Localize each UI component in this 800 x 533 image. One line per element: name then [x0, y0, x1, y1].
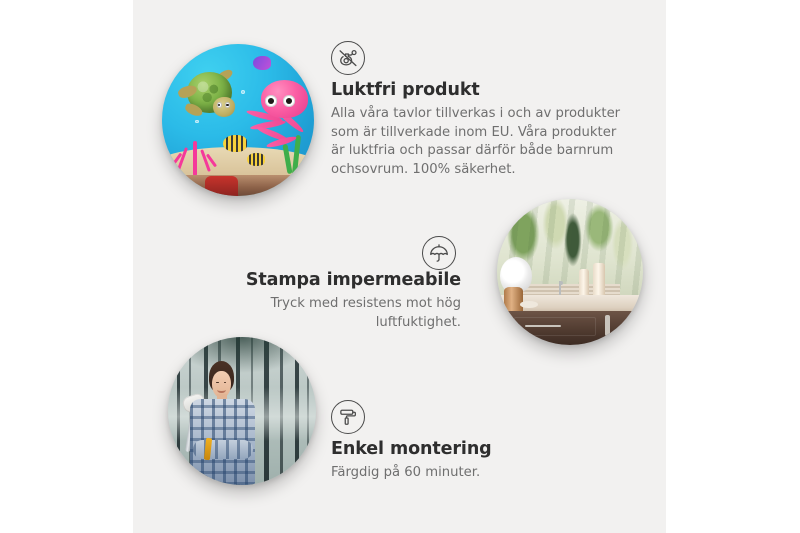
octopus-body [261, 80, 308, 117]
sea-foreground-object [205, 176, 238, 196]
feature-title: Luktfri produkt [331, 80, 623, 101]
eye [224, 382, 226, 383]
feature-title: Enkel montering [331, 439, 623, 460]
no-fragrance-icon [331, 41, 365, 75]
feature-description: Färgdig på 60 minuter. [331, 464, 623, 483]
coral-icon [174, 137, 217, 177]
feature-description: Alla våra tavlor tillverkas i och av pro… [331, 105, 623, 180]
yellow-fish-icon [223, 135, 247, 152]
feature-text-odourless: Luktfri produkt Alla våra tavlor tillver… [331, 80, 623, 180]
turtle-icon [182, 70, 243, 123]
wooden-vanity [506, 311, 643, 345]
page-root: Luktfri produkt Alla våra tavlor tillver… [0, 0, 800, 533]
octopus-icon [247, 80, 311, 147]
feature-text-waterproof-print: Stampa impermeabile Tryck med resistens … [193, 270, 461, 332]
feature-panel: Luktfri produkt Alla våra tavlor tillver… [133, 0, 666, 533]
toiletry-bottle [579, 269, 589, 298]
feature-image-woman-with-roller [168, 337, 316, 485]
purple-fish-icon [253, 56, 271, 70]
folded-arms [193, 440, 253, 459]
underwater-scene [162, 44, 314, 196]
cabinet-handle [605, 315, 610, 336]
feature-image-underwater-scene [162, 44, 314, 196]
turtle-eye [225, 102, 230, 108]
paint-roller-icon [331, 400, 365, 434]
octopus-eye [265, 95, 277, 106]
sea-bottom-strip [162, 175, 314, 196]
woman-figure [183, 361, 269, 485]
umbrella-icon [422, 236, 456, 270]
forest-wallpaper-scene [168, 337, 316, 485]
drawer-handle [525, 325, 561, 327]
coral-branch [193, 141, 197, 176]
feature-image-bathroom [497, 199, 643, 345]
feature-text-easy-installation: Enkel montering Färgdig på 60 minuter. [331, 439, 623, 483]
eye [216, 382, 218, 383]
feature-title: Stampa impermeabile [193, 270, 461, 291]
yellow-fish-icon [247, 153, 265, 165]
bathroom-scene [497, 199, 643, 345]
turtle-head [213, 97, 235, 116]
smile [217, 388, 225, 394]
octopus-eye [283, 95, 295, 106]
feature-description: Tryck med resistens mot hög luftfuktighe… [193, 295, 461, 332]
turtle-eye [217, 102, 222, 108]
